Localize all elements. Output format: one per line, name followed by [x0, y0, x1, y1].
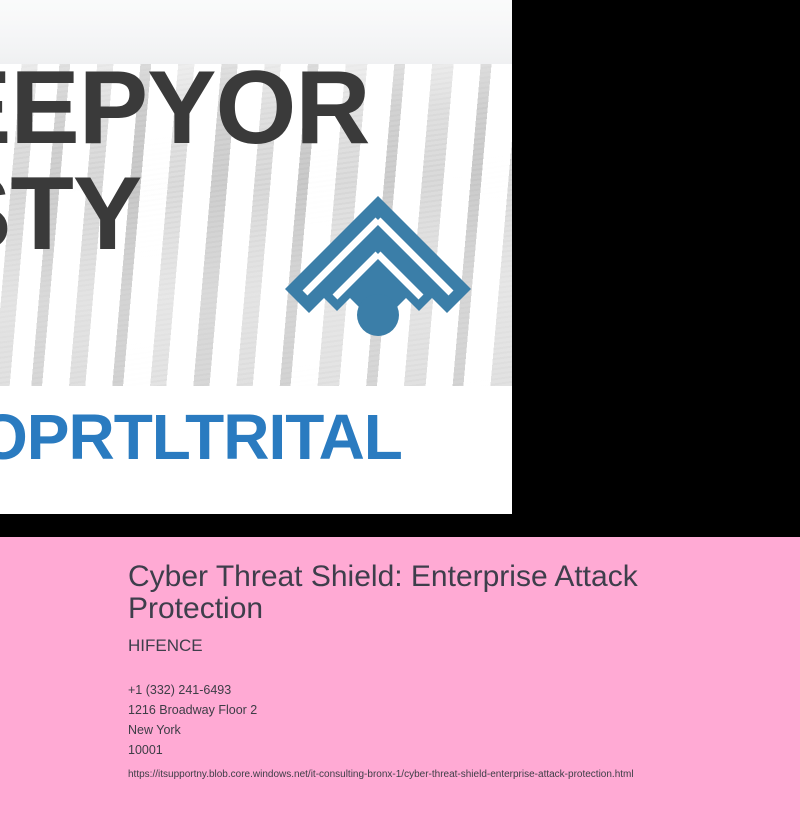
content-panel: Cyber Threat Shield: Enterprise Attack P…	[0, 537, 800, 840]
hero-banner-image: EEPYOR STY OPRTLTRITAL	[0, 0, 512, 514]
contact-phone: +1 (332) 241-6493	[128, 680, 776, 700]
black-separator-band	[0, 514, 800, 537]
source-url-text: https://itsupportny.blob.core.windows.ne…	[128, 768, 776, 782]
wifi-signal-icon	[279, 190, 477, 338]
contact-city: New York	[128, 720, 776, 740]
contact-block: +1 (332) 241-6493 1216 Broadway Floor 2 …	[128, 680, 776, 760]
hero-headline-line-1: EEPYOR	[0, 50, 369, 166]
company-name: HIFENCE	[128, 636, 776, 656]
hero-brand-word: OPRTLTRITAL	[0, 400, 402, 474]
contact-postal-code: 10001	[128, 740, 776, 760]
hero-brand-band: OPRTLTRITAL	[0, 386, 512, 514]
page-root: EEPYOR STY OPRTLTRITAL Cyber Th	[0, 0, 800, 840]
page-title: Cyber Threat Shield: Enterprise Attack P…	[128, 561, 708, 626]
content-inner: Cyber Threat Shield: Enterprise Attack P…	[128, 561, 776, 782]
contact-street: 1216 Broadway Floor 2	[128, 700, 776, 720]
